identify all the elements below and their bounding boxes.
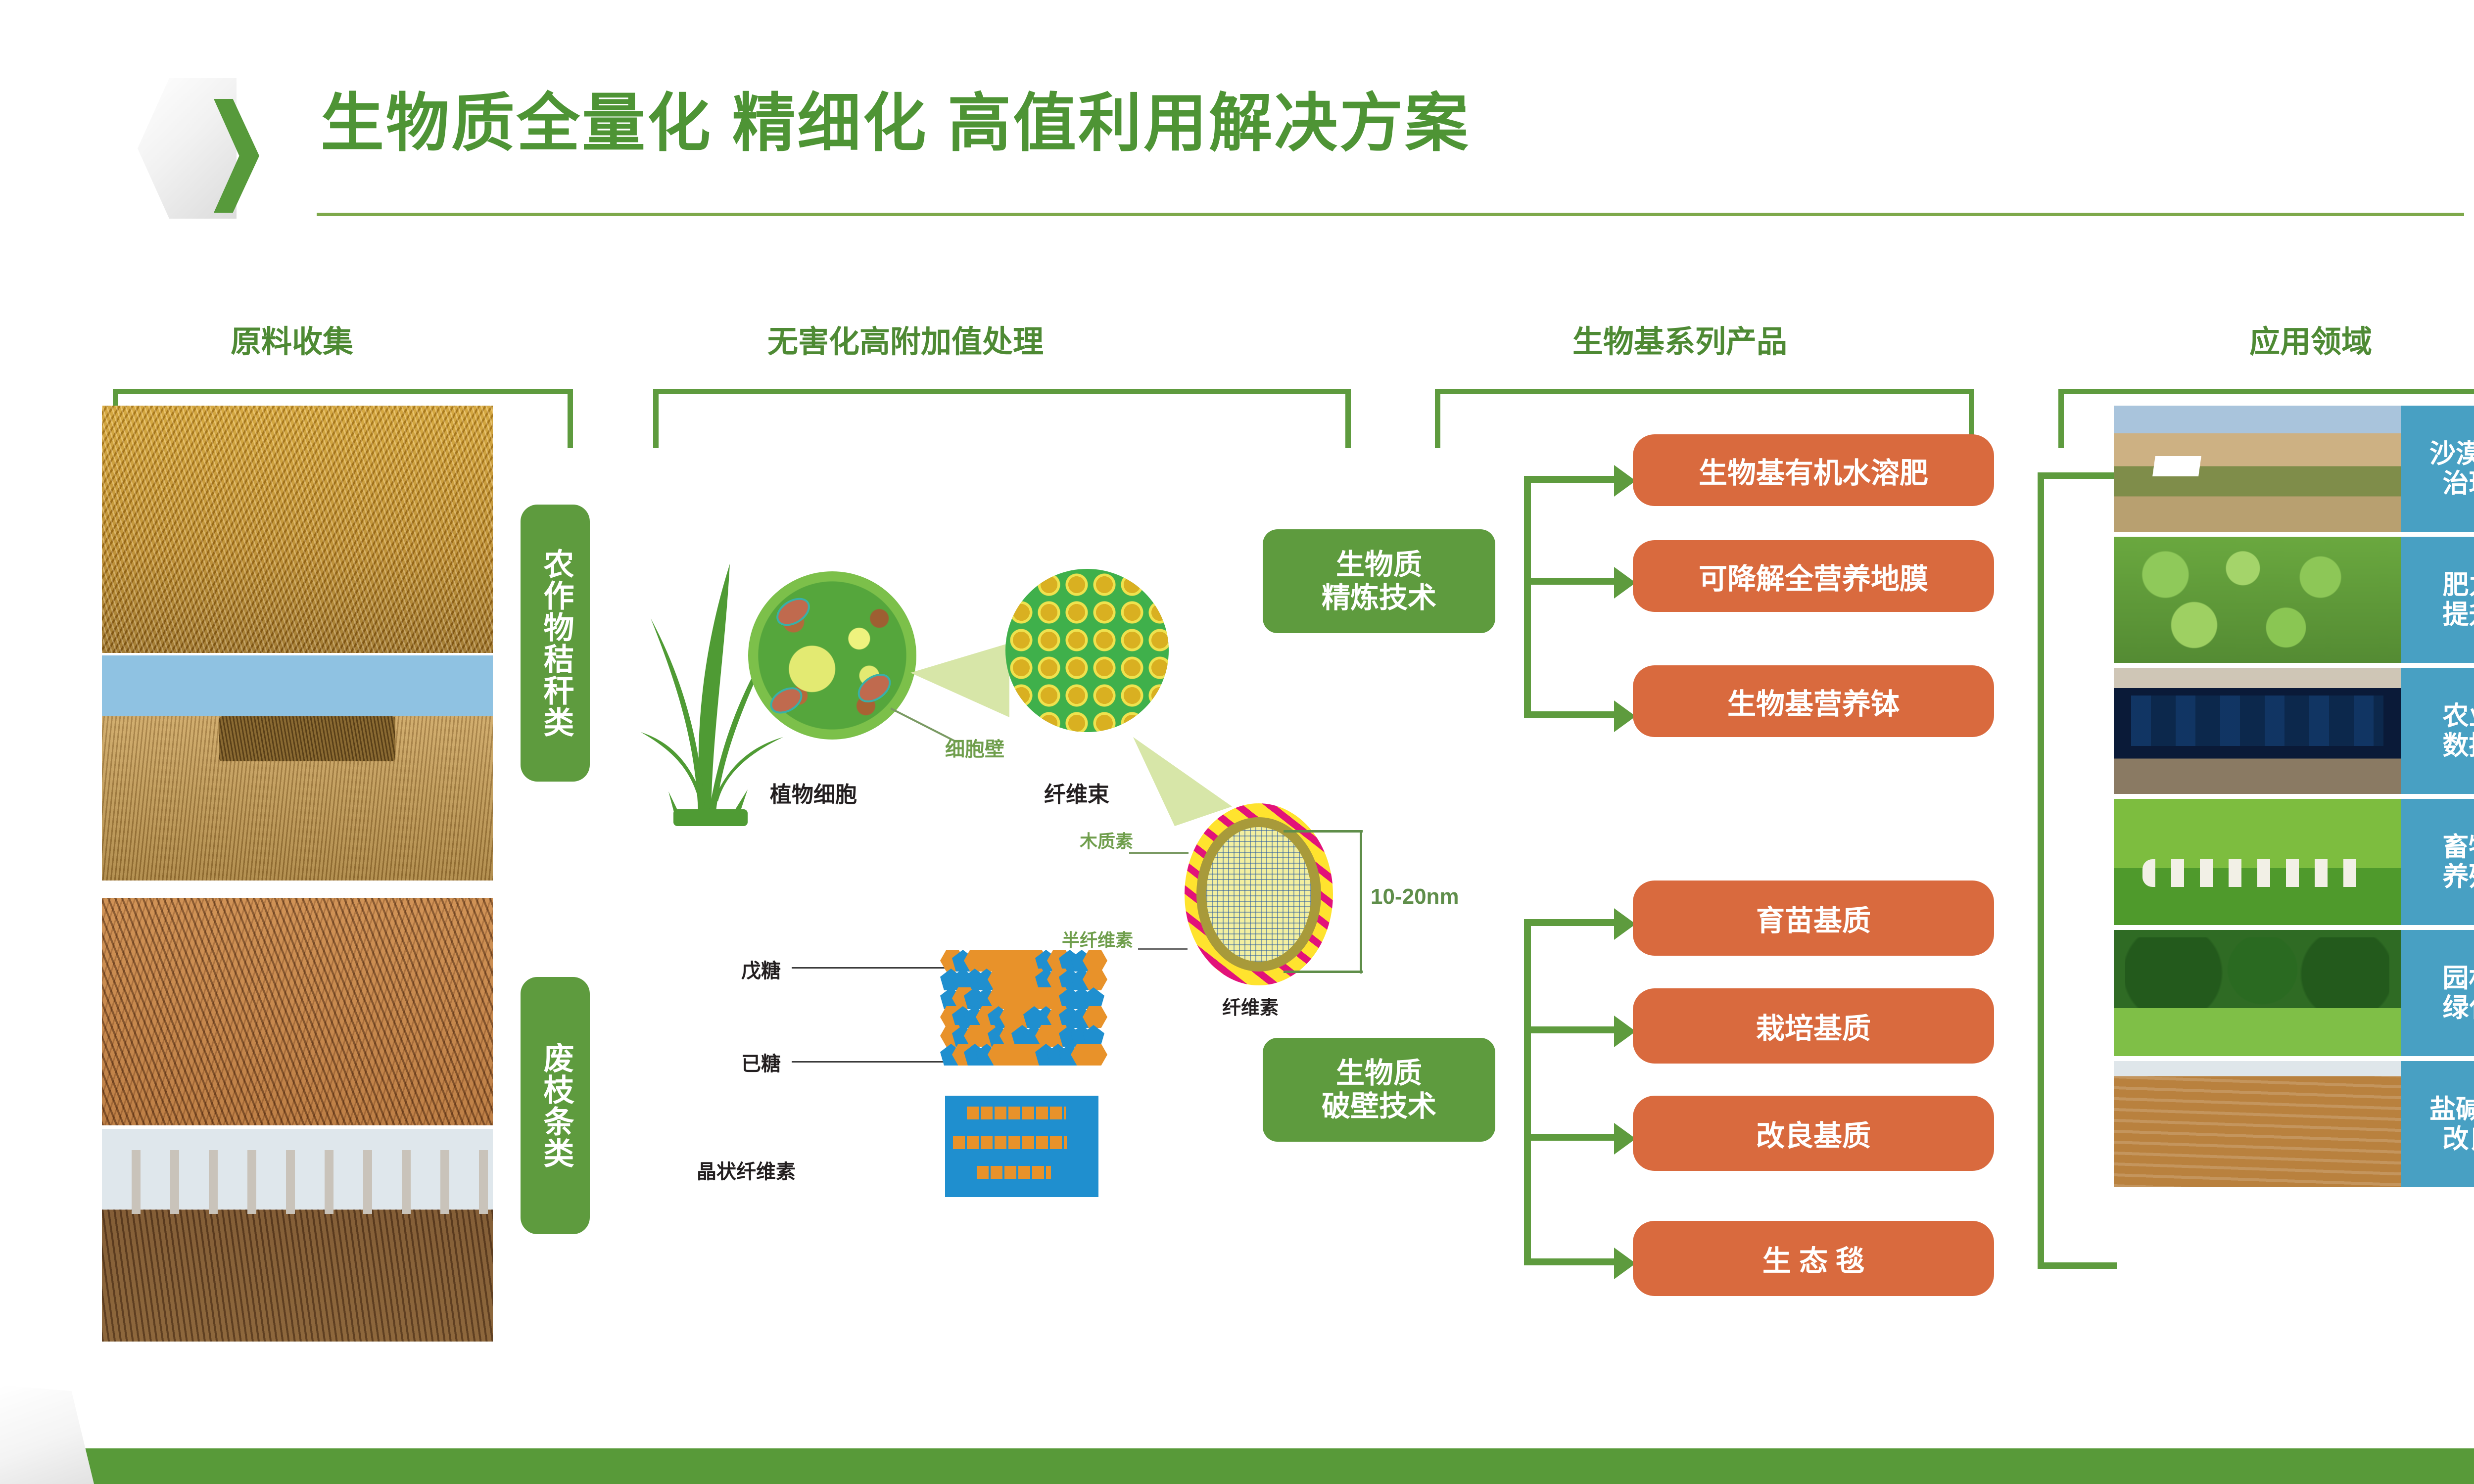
application-photo-sheep-pasture xyxy=(2114,799,2401,925)
app-label-line1: 沙漠化 xyxy=(2429,439,2474,468)
product-bio-nutrient-pot[interactable]: 生物基营养钵 xyxy=(1633,665,1994,737)
connector-branch-wall-4 xyxy=(1524,1258,1618,1265)
section-heading-processing: 无害化高附加值处理 xyxy=(638,317,1173,361)
pentose-leader-line xyxy=(792,967,945,969)
slide-canvas: 生物质全量化 精细化 高值利用解决方案 原料收集 无害化高附加值处理 生物基系列… xyxy=(0,0,2474,1484)
application-photo-data-control-room xyxy=(2114,668,2401,794)
application-tag-desertification-control[interactable]: 沙漠化 治理 xyxy=(2401,406,2474,532)
dimension-line-vertical xyxy=(1360,830,1362,974)
magnify-beam-2 xyxy=(910,643,1009,717)
connector-branch-wall-2 xyxy=(1524,1026,1618,1033)
feedstock-photo-dry-branches xyxy=(102,898,493,1125)
plant-cell-illustration xyxy=(748,571,916,740)
app-label-line2: 治理 xyxy=(2443,469,2474,498)
application-tag-fertility-improvement[interactable]: 肥力 提升 xyxy=(2401,537,2474,663)
application-tag-landscape-greening[interactable]: 园林 绿化 xyxy=(2401,930,2474,1056)
fiber-cells-pattern xyxy=(1005,569,1169,732)
application-tag-livestock-breeding[interactable]: 畜牧 养殖 xyxy=(2401,799,2474,925)
footer-bar xyxy=(0,1448,2474,1484)
product-degradable-full-nutrient-mulch-film[interactable]: 可降解全营养地膜 xyxy=(1633,540,1994,612)
application-row-desertification-control[interactable]: 沙漠化 治理 xyxy=(2114,406,2474,532)
applications-bracket xyxy=(2038,472,2117,1269)
app-label-line1: 农业 xyxy=(2443,701,2474,731)
app-label-line2: 改良 xyxy=(2443,1124,2474,1154)
label-fiber-bundle: 纤维束 xyxy=(1044,777,1109,808)
application-photo-saline-land xyxy=(2114,1061,2401,1187)
application-row-landscape-greening[interactable]: 园林 绿化 xyxy=(2114,930,2474,1056)
connector-branch-wall-3 xyxy=(1524,1134,1618,1141)
application-photo-park-trees xyxy=(2114,930,2401,1056)
application-photo-cabbage-field xyxy=(2114,537,2401,663)
application-row-agriculture-data[interactable]: 农业 数据 xyxy=(2114,668,2474,794)
fiber-bundle-illustration xyxy=(1005,569,1169,732)
section-heading-applications: 应用领域 xyxy=(2044,317,2474,361)
section-heading-collection: 原料收集 xyxy=(94,317,490,361)
label-hemicellulose: 半纤维素 xyxy=(1062,926,1133,952)
app-label-line1: 肥力 xyxy=(2443,570,2474,600)
hexose-leader-line xyxy=(792,1061,945,1063)
fiber-cross-section-cellulose-core xyxy=(1206,827,1311,962)
feedstock-photo-corn-stalk xyxy=(102,406,493,653)
product-improvement-substrate[interactable]: 改良基质 xyxy=(1633,1096,1994,1171)
tech-label-line1: 生物质 xyxy=(1336,549,1422,581)
app-label-line1: 畜牧 xyxy=(2443,833,2474,862)
label-cellulose: 纤维素 xyxy=(1222,992,1279,1020)
feedstock-label-waste-branch: 废枝条类 xyxy=(521,977,590,1234)
label-fiber-dimension: 10-20nm xyxy=(1371,884,1459,909)
connector-branch-refining-1 xyxy=(1524,476,1618,483)
magnify-beam-3 xyxy=(1133,737,1232,826)
page-title: 生物质全量化 精细化 高值利用解决方案 xyxy=(321,92,1470,155)
section-bracket-processing xyxy=(653,389,1351,448)
connector-branch-wall-1 xyxy=(1524,919,1618,926)
label-crystalline-cellulose: 晶状纤维素 xyxy=(697,1156,796,1184)
mitochondrion-icon xyxy=(765,682,807,719)
footer-wedge-decoration xyxy=(0,1385,94,1484)
tech-box-biomass-refining[interactable]: 生物质 精炼技术 xyxy=(1263,529,1495,633)
hemicellulose-leader-line xyxy=(1138,948,1188,950)
application-row-livestock-breeding[interactable]: 畜牧 养殖 xyxy=(2114,799,2474,925)
tech-label-line1: 生物质 xyxy=(1336,1057,1422,1089)
app-label-line2: 提升 xyxy=(2443,600,2474,629)
connector-branch-refining-2 xyxy=(1524,578,1618,585)
application-tag-saline-alkali-improvement[interactable]: 盐碱地 改良 xyxy=(2401,1061,2474,1187)
connector-trunk-wall-breaking xyxy=(1524,919,1531,1265)
label-plant-cell: 植物细胞 xyxy=(770,777,857,808)
sugar-chain-diagram xyxy=(940,950,1098,1073)
label-pentose: 戊糖 xyxy=(741,955,781,983)
label-hexose: 已糖 xyxy=(741,1048,781,1076)
product-bio-organic-water-soluble-fertilizer[interactable]: 生物基有机水溶肥 xyxy=(1633,434,1994,506)
feedstock-photo-orchard-pruning xyxy=(102,1129,493,1342)
mitochondrion-icon xyxy=(771,592,815,632)
section-heading-products: 生物基系列产品 xyxy=(1425,317,1935,361)
dimension-tick-top xyxy=(1284,830,1363,833)
label-lignin: 木质素 xyxy=(1080,827,1133,853)
app-label-line1: 盐碱地 xyxy=(2429,1095,2474,1124)
app-label-line2: 数据 xyxy=(2443,731,2474,760)
dimension-tick-bottom xyxy=(1284,971,1363,973)
connector-branch-refining-3 xyxy=(1524,711,1618,718)
title-underline-divider xyxy=(317,213,2464,216)
application-row-fertility-improvement[interactable]: 肥力 提升 xyxy=(2114,537,2474,663)
label-cell-wall: 细胞壁 xyxy=(945,733,1004,762)
product-seedling-substrate[interactable]: 育苗基质 xyxy=(1633,881,1994,956)
crystalline-cellulose-diagram xyxy=(945,1096,1098,1197)
mitochondrion-icon xyxy=(853,668,896,708)
connector-trunk-refining xyxy=(1524,476,1531,718)
tech-label-line2: 精炼技术 xyxy=(1322,582,1436,614)
tech-label-line2: 破壁技术 xyxy=(1322,1090,1436,1122)
product-ecological-blanket[interactable]: 生 态 毯 xyxy=(1633,1221,1994,1296)
app-label-line2: 绿化 xyxy=(2443,993,2474,1022)
tech-box-biomass-wall-breaking[interactable]: 生物质 破壁技术 xyxy=(1263,1038,1495,1142)
hexagon-chevron-logo-icon xyxy=(138,78,260,219)
product-cultivation-substrate[interactable]: 栽培基质 xyxy=(1633,988,1994,1064)
lignin-leader-line xyxy=(1129,852,1189,854)
application-row-saline-alkali-improvement[interactable]: 盐碱地 改良 xyxy=(2114,1061,2474,1187)
feedstock-photo-straw-bale xyxy=(102,655,493,881)
application-tag-agriculture-data[interactable]: 农业 数据 xyxy=(2401,668,2474,794)
app-label-line1: 园林 xyxy=(2443,964,2474,993)
application-photo-desert-restoration xyxy=(2114,406,2401,532)
app-label-line2: 养殖 xyxy=(2443,862,2474,891)
feedstock-label-crop-straw: 农作物秸秆类 xyxy=(521,505,590,782)
